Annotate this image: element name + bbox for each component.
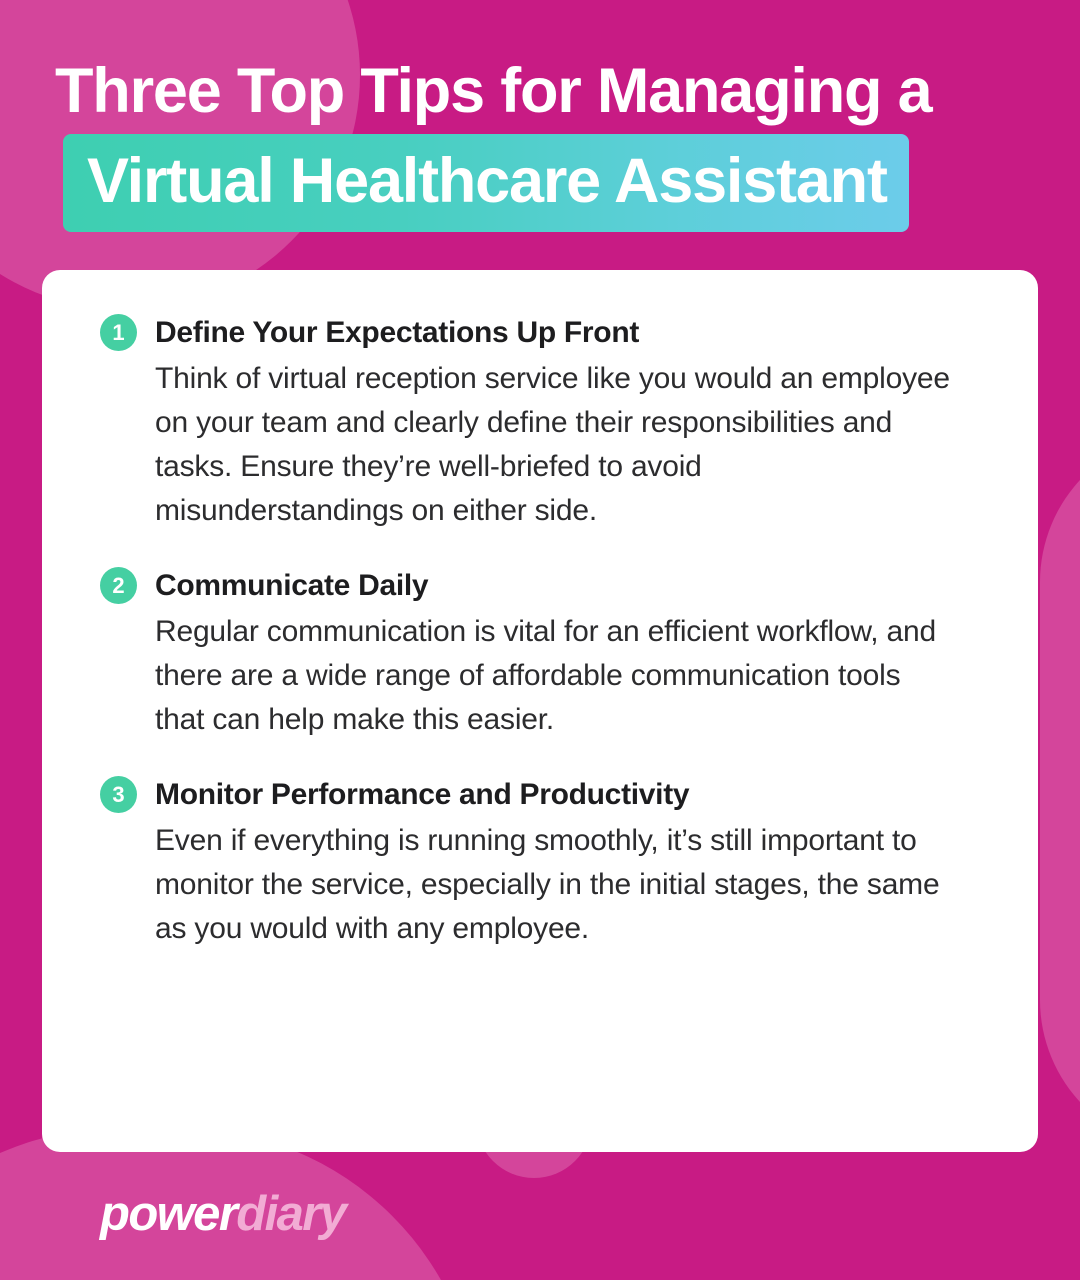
tip-item-2: 2 Communicate Daily Regular communicatio… [100, 567, 984, 742]
tip-number-badge-3: 3 [100, 776, 137, 813]
tip-header-1: 1 Define Your Expectations Up Front [100, 314, 984, 351]
tip-number-badge-1: 1 [100, 314, 137, 351]
tip-body-1: Think of virtual reception service like … [100, 357, 955, 533]
tip-body-3: Even if everything is running smoothly, … [100, 819, 955, 951]
decorative-shape-right [1040, 432, 1080, 1150]
tip-header-3: 3 Monitor Performance and Productivity [100, 776, 984, 813]
page-title-line1: Three Top Tips for Managing a [0, 0, 1080, 130]
tip-header-2: 2 Communicate Daily [100, 567, 984, 604]
tip-item-3: 3 Monitor Performance and Productivity E… [100, 776, 984, 951]
tip-number-badge-2: 2 [100, 567, 137, 604]
page-title-line2-highlight: Virtual Healthcare Assistant [63, 134, 909, 232]
logo-word-diary: diary [236, 1187, 345, 1241]
logo-word-power: power [100, 1187, 236, 1241]
tip-title-2: Communicate Daily [155, 567, 428, 604]
tip-item-1: 1 Define Your Expectations Up Front Thin… [100, 314, 984, 533]
powerdiary-logo: powerdiary [100, 1186, 345, 1242]
poster-header: Three Top Tips for Managing a Virtual He… [0, 0, 1080, 232]
infographic-poster: Three Top Tips for Managing a Virtual He… [0, 0, 1080, 1280]
tip-title-3: Monitor Performance and Productivity [155, 776, 689, 813]
tip-title-1: Define Your Expectations Up Front [155, 314, 639, 351]
tips-card: 1 Define Your Expectations Up Front Thin… [42, 270, 1038, 1152]
tip-body-2: Regular communication is vital for an ef… [100, 610, 955, 742]
page-title-highlight-wrapper: Virtual Healthcare Assistant [0, 130, 1080, 232]
